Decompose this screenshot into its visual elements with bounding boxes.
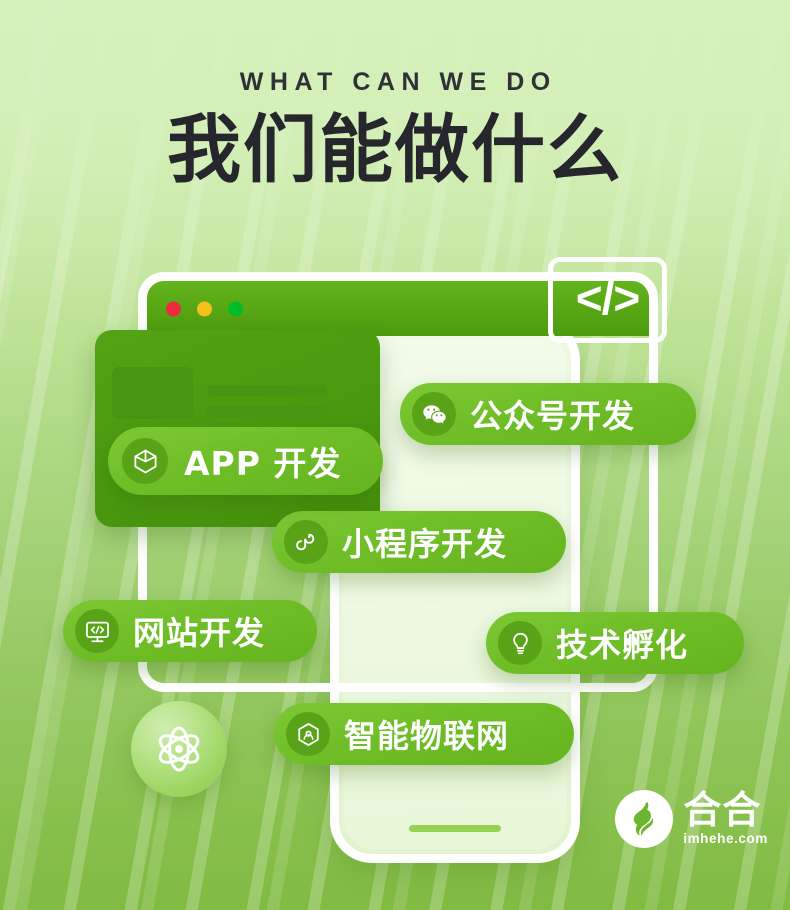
logo-text-block: 合合 imhehe.com xyxy=(683,792,768,846)
brand-logo: 合合 imhehe.com xyxy=(615,790,768,848)
cube-icon xyxy=(122,438,168,484)
brand-name: 合合 xyxy=(683,792,761,828)
hexagon-chip-icon xyxy=(286,712,330,756)
close-dot-icon[interactable] xyxy=(166,301,181,316)
service-pill-app[interactable]: APP 开发 xyxy=(108,427,383,495)
phone-home-indicator xyxy=(409,825,501,832)
page-title: 我们能做什么 xyxy=(0,111,790,189)
service-pill-iot[interactable]: 智能物联网 xyxy=(274,703,574,765)
service-pill-label: 公众号开发 xyxy=(470,391,635,437)
code-brackets-icon: </> xyxy=(576,275,640,321)
lightbulb-icon xyxy=(498,621,542,665)
service-pill-label: 网站开发 xyxy=(133,608,265,654)
service-pill-label: 智能物联网 xyxy=(344,711,509,757)
card-text-line xyxy=(207,385,327,396)
miniprogram-icon xyxy=(284,520,328,564)
service-pill-wechat-official[interactable]: 公众号开发 xyxy=(400,383,696,445)
atom-icon xyxy=(151,721,207,777)
service-pill-label: 小程序开发 xyxy=(342,519,507,565)
hehe-logo-icon xyxy=(615,790,673,848)
browser-traffic-lights xyxy=(166,301,243,316)
card-thumbnail-block xyxy=(112,367,193,419)
atom-badge xyxy=(131,701,227,797)
eyebrow-text: WHAT CAN WE DO xyxy=(0,68,790,97)
poster-canvas: WHAT CAN WE DO 我们能做什么 </> xyxy=(0,0,790,910)
service-pill-miniprogram[interactable]: 小程序开发 xyxy=(272,511,566,573)
card-text-line xyxy=(207,406,327,417)
brand-website: imhehe.com xyxy=(683,831,768,846)
monitor-code-icon xyxy=(75,609,119,653)
service-pill-label: APP 开发 xyxy=(184,437,341,485)
service-pill-website[interactable]: 网站开发 xyxy=(63,600,317,662)
service-pill-incubation[interactable]: 技术孵化 xyxy=(486,612,744,674)
service-pill-label: 技术孵化 xyxy=(556,620,688,666)
maximize-dot-icon[interactable] xyxy=(228,301,243,316)
code-badge: </> xyxy=(548,257,667,343)
poster-header: WHAT CAN WE DO 我们能做什么 xyxy=(0,68,790,189)
wechat-icon xyxy=(412,392,456,436)
minimize-dot-icon[interactable] xyxy=(197,301,212,316)
